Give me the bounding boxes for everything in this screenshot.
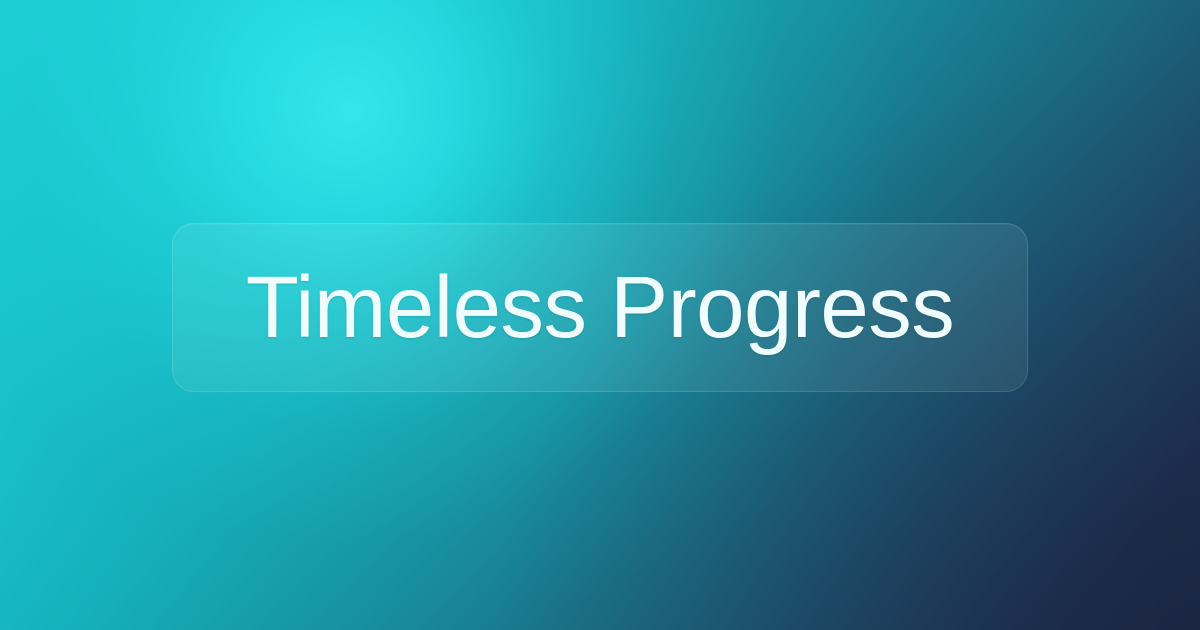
glass-title-card: Timeless Progress (172, 223, 1028, 392)
banner-title: Timeless Progress (246, 264, 955, 351)
hero-banner: Timeless Progress (0, 0, 1200, 630)
banner-content-stage: Timeless Progress (0, 0, 1200, 630)
